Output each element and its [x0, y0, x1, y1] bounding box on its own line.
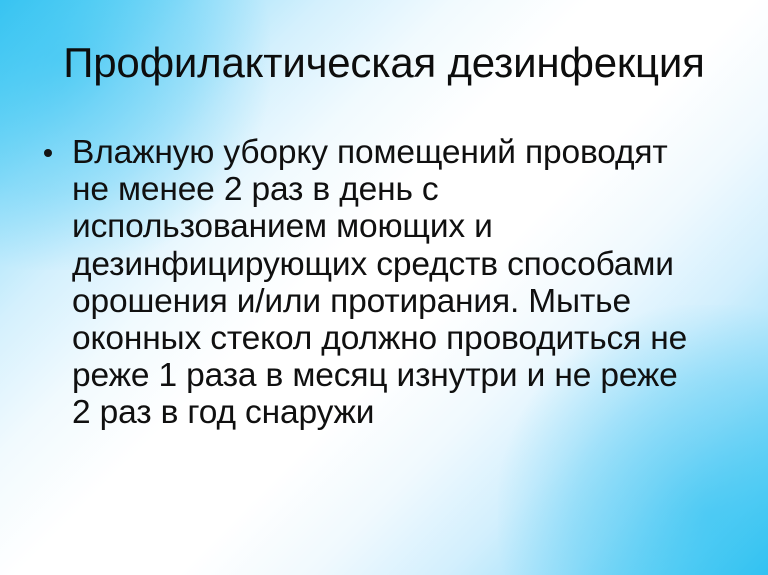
presentation-slide: Профилактическая дезинфекция Влажную убо… [0, 0, 768, 575]
bullet-dot-icon [44, 149, 52, 157]
list-item-label: Влажную уборку помещений проводят не мен… [72, 134, 740, 432]
list-item: Влажную уборку помещений проводят не мен… [40, 134, 740, 432]
slide-title: Профилактическая дезинфекция [0, 38, 768, 88]
slide-content: Профилактическая дезинфекция Влажную убо… [0, 0, 768, 575]
slide-body: Влажную уборку помещений проводят не мен… [40, 134, 740, 432]
